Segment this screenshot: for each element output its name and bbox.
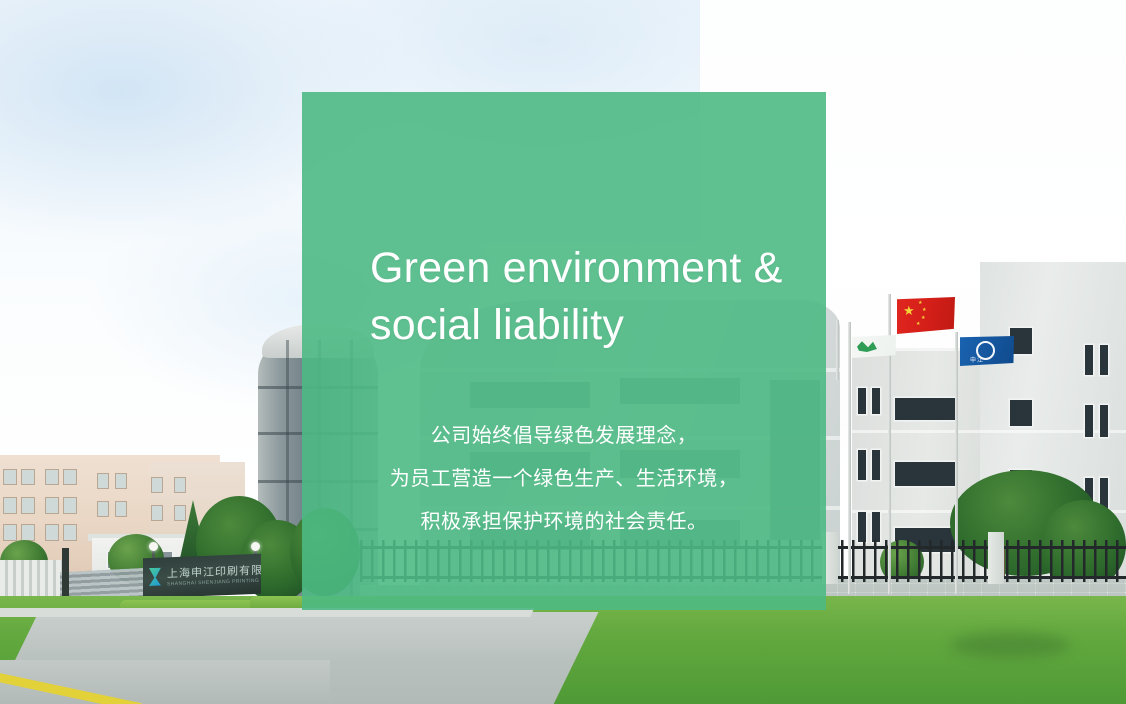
window (858, 388, 866, 414)
headline: Green environment & social liability (370, 240, 822, 354)
window (116, 474, 126, 488)
window (4, 525, 16, 540)
lamp-globe (251, 542, 260, 551)
driveway-foreground (0, 660, 330, 704)
window (872, 512, 880, 542)
white-fence (0, 560, 62, 600)
flagpole (836, 320, 839, 380)
tree-shadow (950, 632, 1070, 658)
window (22, 525, 34, 540)
window (4, 498, 16, 513)
window (46, 498, 58, 513)
company-logo-icon (149, 568, 161, 586)
window (152, 478, 162, 492)
window (1085, 405, 1093, 437)
window (1100, 405, 1108, 437)
window (46, 525, 58, 540)
window (64, 498, 76, 513)
window (858, 450, 866, 480)
fence-pillar (988, 532, 1004, 584)
window (152, 506, 162, 520)
window (64, 470, 76, 484)
body-copy: 公司始终倡导绿色发展理念， 为员工营造一个绿色生产、生活环境， 积极承担保护环境… (328, 414, 800, 543)
window (895, 462, 955, 486)
window (22, 470, 34, 484)
window (1010, 400, 1032, 426)
window (46, 470, 58, 484)
flagpole (955, 332, 958, 594)
gate-post (62, 548, 69, 600)
hero-banner: 上海申江印刷有限公司 SHANGHAI SHENJIANG PRINTING C… (0, 0, 1126, 704)
window (116, 502, 126, 516)
company-flag-label: 申江 (970, 355, 984, 364)
window (22, 498, 34, 513)
window (4, 470, 16, 484)
window (175, 478, 185, 492)
headline-line-2: social liability (370, 301, 624, 349)
body-line-2: 为员工营造一个绿色生产、生活环境， (328, 457, 800, 500)
window (98, 502, 108, 516)
green-overlay-panel: Green environment & social liability 公司始… (302, 92, 826, 610)
window (64, 525, 76, 540)
flagpole (848, 322, 851, 594)
flag-star-icon: ★ (903, 304, 915, 317)
flag-star-icon: ★ (922, 308, 926, 313)
body-line-3: 积极承担保护环境的社会责任。 (328, 500, 800, 543)
window (872, 450, 880, 480)
flag-star-icon: ★ (916, 322, 920, 327)
window (1100, 345, 1108, 375)
window (1085, 345, 1093, 375)
window (98, 474, 108, 488)
lamp-globe (149, 542, 158, 551)
flag-star-icon: ★ (921, 316, 925, 321)
body-line-1: 公司始终倡导绿色发展理念， (328, 414, 800, 457)
window (895, 398, 955, 420)
window (858, 512, 866, 542)
headline-line-1: Green environment & (370, 244, 783, 292)
company-entrance-sign: 上海申江印刷有限公司 SHANGHAI SHENJIANG PRINTING C… (143, 554, 261, 599)
flag-star-icon: ★ (918, 301, 922, 306)
window (175, 506, 185, 520)
window (872, 388, 880, 414)
